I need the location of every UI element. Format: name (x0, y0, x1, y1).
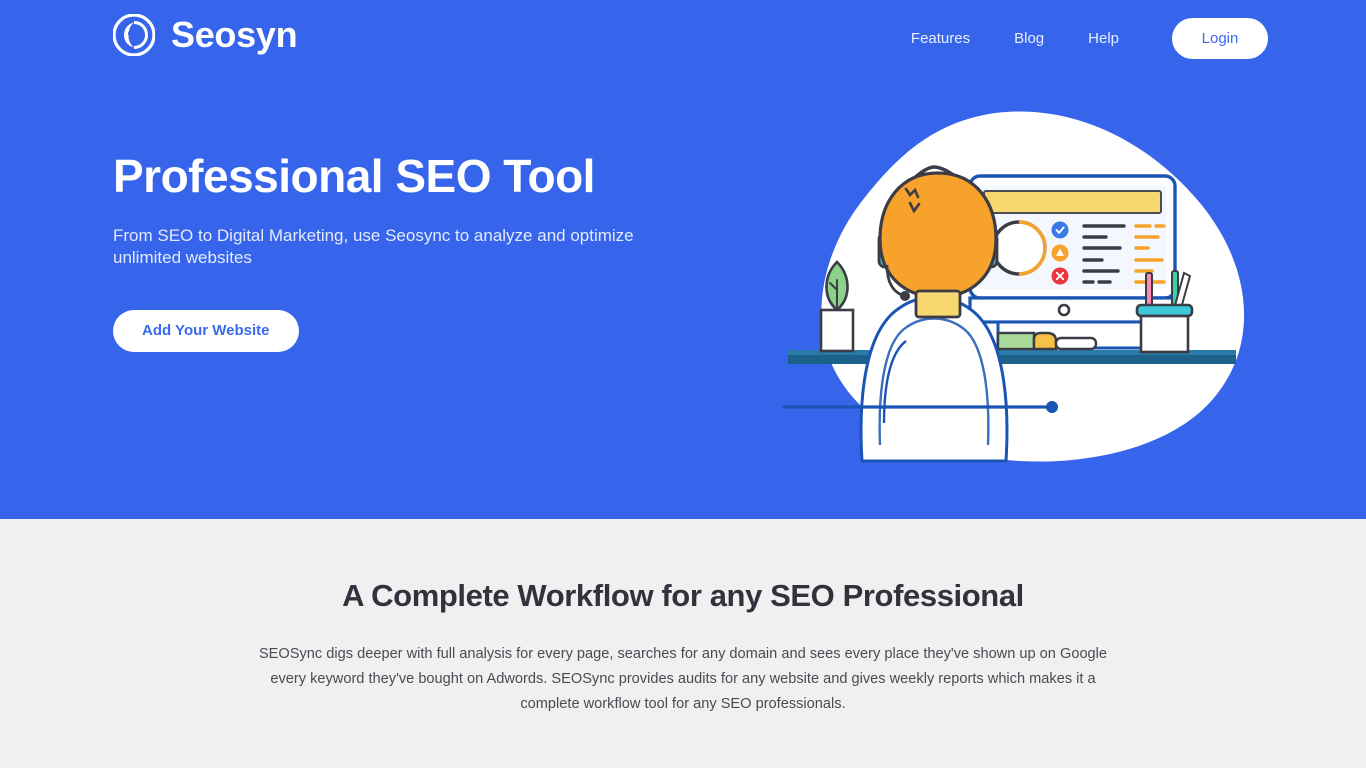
keyboard (1056, 338, 1096, 349)
status-badge-error (1052, 268, 1069, 285)
status-badge-warning (1052, 245, 1069, 262)
seosyn-circle-logo-icon (113, 14, 155, 56)
feature-body-text: SEOSync digs deeper with full analysis f… (249, 642, 1117, 717)
brand-logo[interactable]: Seosyn (113, 14, 297, 56)
login-button[interactable]: Login (1172, 18, 1268, 59)
hero-title: Professional SEO Tool (113, 150, 713, 203)
donut-chart (993, 222, 1045, 274)
hero-section: Seosyn Features Blog Help Login Professi… (0, 0, 1366, 519)
mouse (1034, 333, 1056, 349)
nav-item-help[interactable]: Help (1066, 18, 1141, 59)
notebook (998, 333, 1034, 349)
add-your-website-button[interactable]: Add Your Website (113, 310, 299, 352)
feature-title: A Complete Workflow for any SEO Professi… (0, 577, 1366, 614)
main-navigation: Features Blog Help Login (889, 18, 1268, 59)
seo-analyst-at-desk-illustration (780, 105, 1270, 475)
feature-section: A Complete Workflow for any SEO Professi… (0, 519, 1366, 768)
nav-item-features[interactable]: Features (889, 18, 992, 59)
hero-subtitle: From SEO to Digital Marketing, use Seosy… (113, 225, 661, 269)
nav-item-blog[interactable]: Blog (992, 18, 1066, 59)
site-header: Seosyn Features Blog Help Login (0, 0, 1366, 76)
hero-copy: Professional SEO Tool From SEO to Digita… (113, 150, 713, 352)
status-badge-check (1052, 222, 1069, 239)
brand-name: Seosyn (171, 17, 297, 53)
desktop-monitor-dashboard (970, 176, 1175, 322)
